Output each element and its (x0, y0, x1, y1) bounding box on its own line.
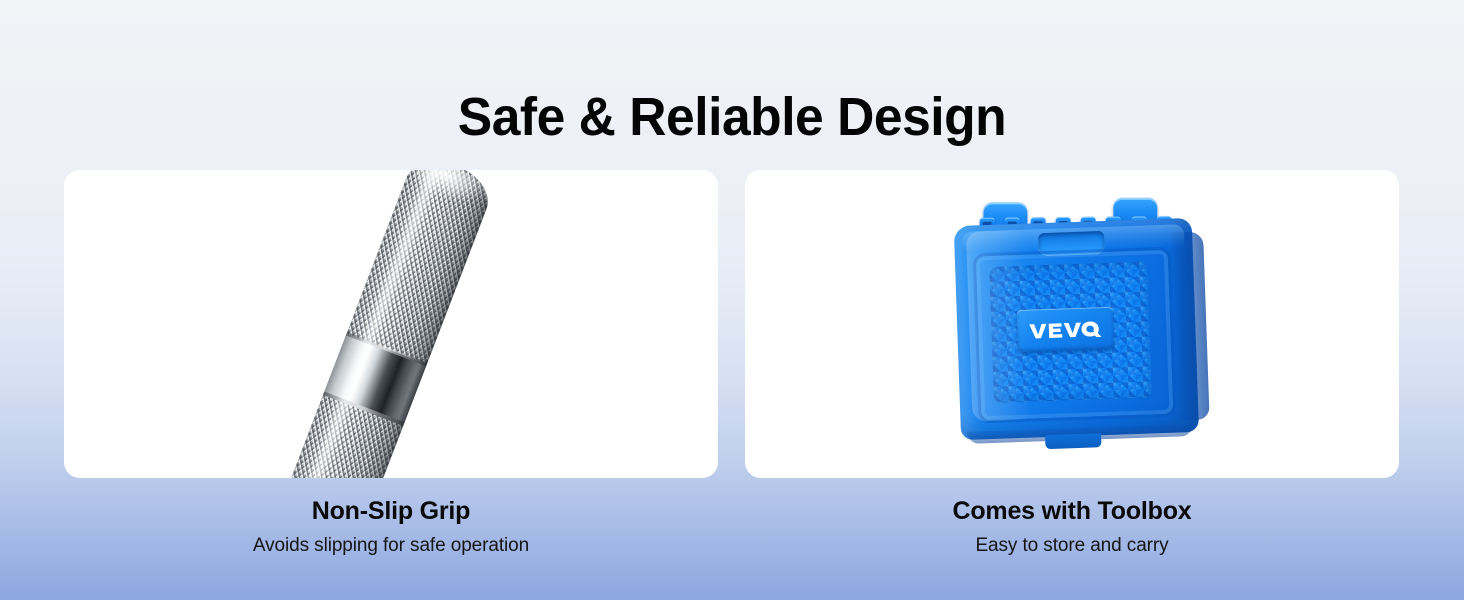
feature-card-comes-with-toolbox (745, 170, 1399, 478)
feature-banner: Safe & Reliable Design (0, 0, 1464, 600)
caption-comes-with-toolbox: Comes with Toolbox Easy to store and car… (745, 478, 1399, 558)
vevor-brand-badge (1017, 307, 1114, 352)
page-title: Safe & Reliable Design (33, 86, 1431, 148)
caption-subtitle: Avoids slipping for safe operation (64, 534, 718, 558)
feature-cards-row (64, 170, 1399, 478)
caption-title: Non-Slip Grip (64, 496, 718, 526)
feature-card-non-slip-grip (64, 170, 718, 478)
knurl-texture-upper (347, 170, 498, 364)
caption-non-slip-grip: Non-Slip Grip Avoids slipping for safe o… (64, 478, 718, 558)
knurled-bar-illustration (64, 170, 718, 478)
toolbox-illustration (745, 170, 1399, 478)
toolbox-bottom-tab (1045, 433, 1101, 449)
caption-subtitle: Easy to store and carry (745, 534, 1399, 558)
caption-title: Comes with Toolbox (745, 496, 1399, 526)
toolbox-shape (945, 188, 1208, 449)
vevor-wordmark-icon (1029, 319, 1102, 341)
chrome-bar-shape (263, 170, 497, 478)
bar-body (263, 170, 497, 478)
feature-captions-row: Non-Slip Grip Avoids slipping for safe o… (64, 478, 1399, 558)
